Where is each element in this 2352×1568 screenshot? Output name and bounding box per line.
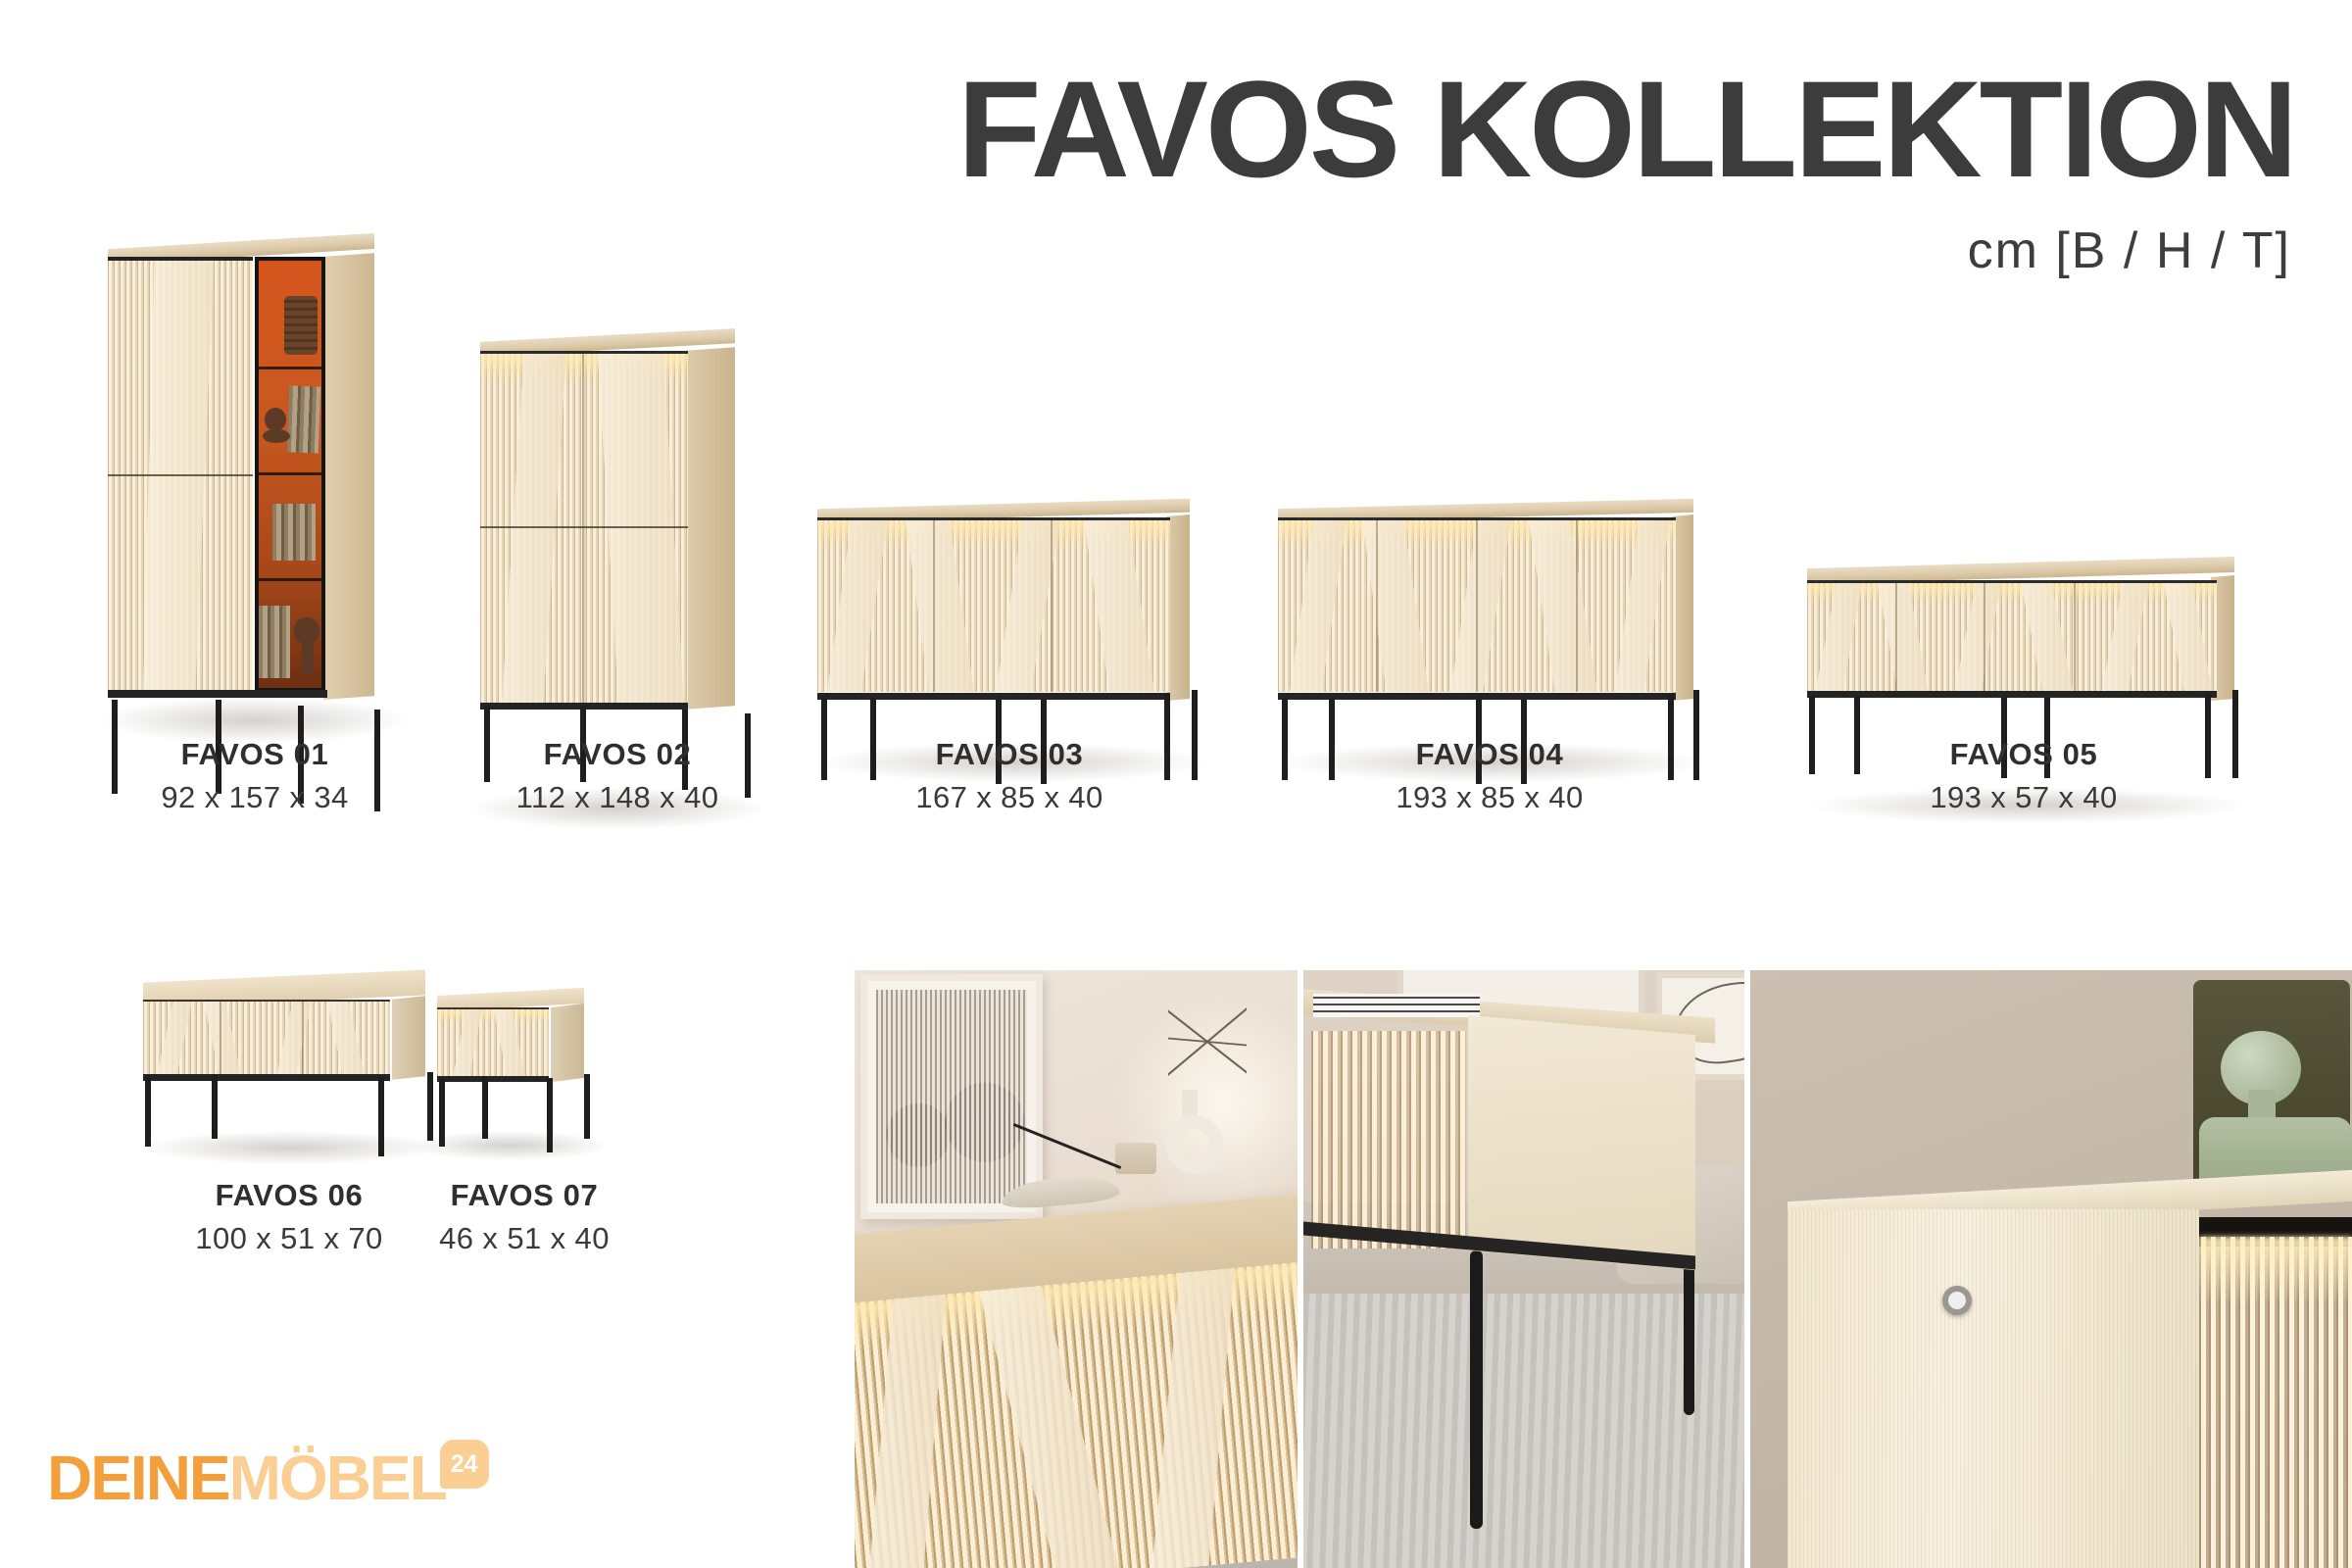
cabinet-fluted-front xyxy=(1311,1031,1466,1249)
vitrine-shelf xyxy=(259,578,321,581)
product-dimensions: 112 x 148 x 40 xyxy=(461,780,774,815)
cabinet-doors[interactable] xyxy=(480,351,688,704)
cabinet-right-side xyxy=(686,347,735,709)
product-name: FAVOS 01 xyxy=(98,737,412,772)
table-fluted-front[interactable] xyxy=(143,1000,390,1076)
textured-rug xyxy=(1303,1294,1744,1568)
catalog-page: FAVOS KOLLEKTION cm [B / H / T] xyxy=(0,0,2352,1568)
push-to-open-knob[interactable] xyxy=(1942,1286,1972,1315)
favos-03-caption: FAVOS 03 167 x 85 x 40 xyxy=(804,737,1215,815)
vitrine-shelf xyxy=(259,472,321,475)
logo-moebel-text: MÖBEL xyxy=(229,1443,446,1513)
candle-jar xyxy=(1115,1143,1156,1174)
cabinet-fluted-doors[interactable] xyxy=(108,257,253,692)
door-vertical-seam xyxy=(1051,520,1053,692)
door-vertical-seam xyxy=(220,1002,221,1076)
ring-vase xyxy=(1166,1115,1223,1174)
cabinet-side-panel xyxy=(1468,1015,1695,1270)
door-vertical-seam xyxy=(2074,583,2076,694)
logo-deine-text: DEINE xyxy=(47,1443,229,1513)
nightstand-leg xyxy=(439,1078,445,1147)
table-leg xyxy=(145,1076,151,1147)
lifestyle-photo-strip xyxy=(855,970,2352,1568)
sideboard-fluted-doors xyxy=(855,1259,1298,1568)
product-dimensions: 167 x 85 x 40 xyxy=(804,780,1215,815)
cabinet-doors[interactable] xyxy=(817,517,1170,692)
door-vertical-seam xyxy=(1476,520,1478,692)
product-favos-04[interactable]: FAVOS 04 193 x 85 x 40 xyxy=(1264,490,1715,862)
vitrine-books xyxy=(259,606,290,678)
brand-logo[interactable]: DEINEMÖBEL24 xyxy=(47,1446,489,1516)
favos-06-body xyxy=(143,976,425,1079)
cabinet-right-side xyxy=(323,253,374,700)
product-favos-01[interactable]: FAVOS 01 92 x 157 x 34 xyxy=(98,235,412,862)
product-favos-05[interactable]: FAVOS 05 193 x 57 x 40 xyxy=(1793,549,2254,862)
door-vertical-seam xyxy=(1376,520,1378,692)
product-dimensions: 193 x 85 x 40 xyxy=(1264,780,1715,815)
product-name: FAVOS 07 xyxy=(392,1178,657,1213)
product-favos-07[interactable]: FAVOS 07 46 x 51 x 40 xyxy=(392,960,657,1254)
led-strip xyxy=(437,1009,549,1023)
page-title: FAVOS KOLLEKTION xyxy=(957,61,2295,198)
photo-cabinet-side-detail[interactable] xyxy=(1303,970,1744,1568)
product-name: FAVOS 02 xyxy=(461,737,774,772)
wood-grain-texture xyxy=(1788,1209,2199,1568)
vitrine-glass-section[interactable] xyxy=(255,257,325,692)
product-name: FAVOS 04 xyxy=(1264,737,1715,772)
vitrine-decor-bowl xyxy=(265,408,286,431)
photo-sideboard-styled[interactable] xyxy=(855,970,1298,1568)
nightstand-leg xyxy=(584,1074,590,1139)
artwork-pattern xyxy=(876,990,1027,1203)
door-vertical-seam xyxy=(582,354,584,704)
vitrine-decor-bowl xyxy=(263,429,290,443)
vitrine-decor-vase xyxy=(284,296,318,355)
favos-05-caption: FAVOS 05 193 x 57 x 40 xyxy=(1793,737,2254,815)
logo-24-badge: 24 xyxy=(440,1440,489,1489)
nightstand-leg xyxy=(482,1076,488,1139)
door-vertical-seam xyxy=(1895,583,1897,694)
favos-03-body xyxy=(817,504,1190,700)
product-favos-02[interactable]: FAVOS 02 112 x 148 x 40 xyxy=(461,323,774,862)
favos-01-body xyxy=(108,241,374,702)
nightstand-right-side xyxy=(551,1004,584,1082)
favos-02-caption: FAVOS 02 112 x 148 x 40 xyxy=(461,737,774,815)
door-horizontal-seam xyxy=(480,526,688,528)
product-name: FAVOS 03 xyxy=(804,737,1215,772)
product-dimensions: 46 x 51 x 40 xyxy=(392,1221,657,1256)
favos-01-caption: FAVOS 01 92 x 157 x 34 xyxy=(98,737,412,815)
favos-04-body xyxy=(1278,504,1693,700)
table-base-bar xyxy=(143,1074,390,1081)
cabinet-leg xyxy=(1470,1250,1483,1529)
table-leg xyxy=(378,1076,384,1156)
stacked-books xyxy=(1313,994,1480,1017)
led-strip xyxy=(1807,583,2217,603)
door-vertical-seam xyxy=(302,1002,304,1076)
product-dimensions: 193 x 57 x 40 xyxy=(1793,780,2254,815)
table-leg xyxy=(212,1074,218,1139)
cabinet-doors[interactable] xyxy=(1807,580,2217,694)
product-name: FAVOS 05 xyxy=(1793,737,2254,772)
dimension-legend: cm [B / H / T] xyxy=(1968,225,2291,276)
door-vertical-seam xyxy=(1576,520,1578,692)
vitrine-shelf xyxy=(259,367,321,369)
favos-07-body xyxy=(437,992,584,1082)
product-dimensions: 92 x 157 x 34 xyxy=(98,780,412,815)
photo-cabinet-corner-knob[interactable] xyxy=(1750,970,2352,1568)
product-favos-03[interactable]: FAVOS 03 167 x 85 x 40 xyxy=(804,490,1215,862)
vitrine-books xyxy=(287,385,320,453)
framed-artwork xyxy=(860,974,1043,1219)
dried-branches xyxy=(1168,988,1247,1096)
vitrine-decor-stem xyxy=(302,639,314,674)
nightstand-drawer-front[interactable] xyxy=(437,1007,549,1078)
door-vertical-seam xyxy=(1984,583,1985,694)
cabinet-side-panel xyxy=(1788,1209,2199,1568)
led-glow xyxy=(2199,1237,2352,1305)
door-horizontal-seam xyxy=(108,474,253,476)
cabinet-base-bar xyxy=(1807,691,2217,698)
favos-07-caption: FAVOS 07 46 x 51 x 40 xyxy=(392,1178,657,1256)
nightstand-base-bar xyxy=(437,1076,549,1082)
cabinet-base-bar xyxy=(108,690,327,698)
favos-04-caption: FAVOS 04 193 x 85 x 40 xyxy=(1264,737,1715,815)
vitrine-books xyxy=(272,504,316,561)
cabinet-doors[interactable] xyxy=(1278,517,1676,692)
cabinet-base-bar xyxy=(1278,693,1676,700)
nightstand-leg xyxy=(547,1078,553,1152)
favos-02-body xyxy=(480,335,735,710)
door-vertical-seam xyxy=(933,520,935,692)
favos-05-body xyxy=(1807,563,2234,698)
